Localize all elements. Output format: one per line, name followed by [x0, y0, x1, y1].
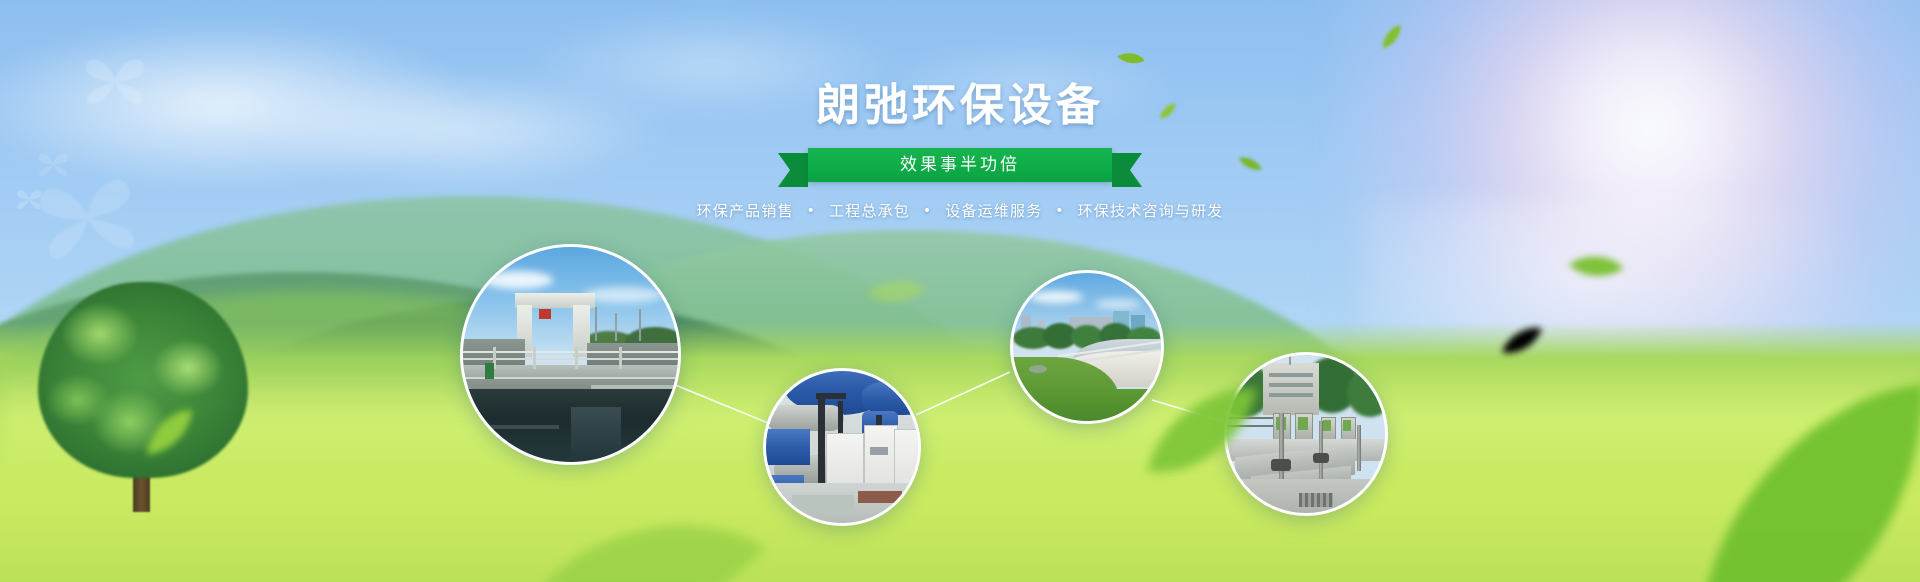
- banner-text-block: 朗弛环保设备 效果事半功倍 环保产品销售 • 工程总承包 • 设备运维服务 • …: [0, 84, 1920, 221]
- photo-scene: [1013, 273, 1161, 421]
- tree-crown: [38, 282, 248, 478]
- service-item-3: 环保技术咨询与研发: [1078, 203, 1224, 220]
- photo-scene: [463, 247, 678, 462]
- ribbon-fold-right-icon: [1112, 153, 1142, 187]
- meadow-highlight: [0, 366, 1920, 486]
- separator-dot-icon: •: [808, 202, 814, 219]
- photo-scene: [766, 371, 918, 523]
- photo-circle-blower-equipment-room[interactable]: [763, 368, 921, 526]
- service-item-2: 设备运维服务: [945, 203, 1042, 220]
- tagline-text: 效果事半功倍: [808, 148, 1112, 182]
- foreground-tree: [38, 282, 248, 512]
- photo-circle-circular-clarifier[interactable]: [1010, 270, 1164, 424]
- service-item-0: 环保产品销售: [697, 203, 794, 220]
- photo-circle-wastewater-treatment-basin[interactable]: [460, 244, 681, 465]
- tagline-ribbon: 效果事半功倍: [808, 148, 1112, 182]
- service-item-1: 工程总承包: [829, 203, 910, 220]
- page-title: 朗弛环保设备: [0, 84, 1920, 128]
- separator-dot-icon: •: [1057, 202, 1063, 219]
- separator-dot-icon: •: [924, 202, 930, 219]
- hero-banner: 朗弛环保设备 效果事半功倍 环保产品销售 • 工程总承包 • 设备运维服务 • …: [0, 0, 1920, 582]
- services-list: 环保产品销售 • 工程总承包 • 设备运维服务 • 环保技术咨询与研发: [0, 200, 1920, 221]
- ribbon-fold-left-icon: [778, 153, 808, 187]
